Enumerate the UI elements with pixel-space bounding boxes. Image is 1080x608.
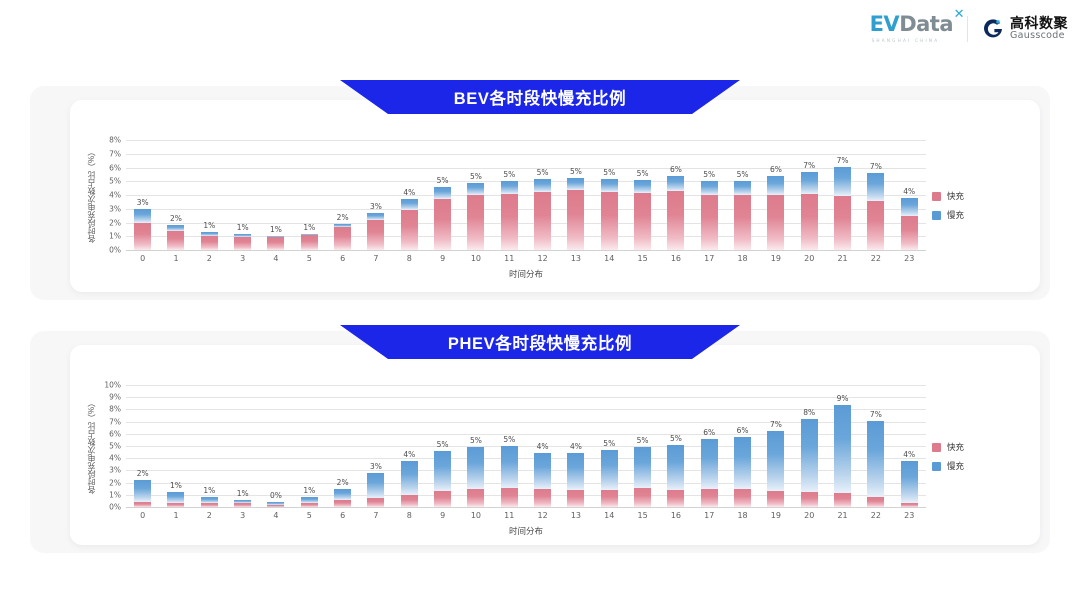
bar-data-label: 5% bbox=[437, 440, 449, 449]
x-axis-tick: 1 bbox=[160, 511, 191, 520]
stacked-bar[interactable] bbox=[834, 405, 851, 507]
legend-color-swatch bbox=[932, 462, 941, 471]
x-axis-tick: 9 bbox=[427, 511, 458, 520]
bar-segment-fast-charge[interactable] bbox=[534, 489, 551, 507]
bar-segment-fast-charge[interactable] bbox=[267, 237, 284, 250]
bar-segment-slow-charge[interactable] bbox=[134, 209, 151, 222]
bar-segment-fast-charge[interactable] bbox=[467, 489, 484, 507]
bar-series-group: 2%1%1%1%0%1%2%3%4%5%5%5%4%4%5%5%5%6%6%7%… bbox=[126, 385, 926, 507]
legend-label: 慢充 bbox=[947, 209, 964, 221]
bar-data-label: 7% bbox=[770, 420, 782, 429]
stacked-bar[interactable] bbox=[267, 236, 284, 250]
y-axis-tick: 5% bbox=[109, 442, 121, 451]
legend-color-swatch bbox=[932, 443, 941, 452]
bar-column[interactable]: 3% bbox=[360, 140, 391, 250]
bar-segment-slow-charge[interactable] bbox=[701, 181, 718, 195]
bar-segment-slow-charge[interactable] bbox=[701, 439, 718, 489]
bar-column[interactable]: 5% bbox=[460, 385, 491, 507]
stacked-bar[interactable] bbox=[467, 447, 484, 507]
stacked-bar[interactable] bbox=[267, 502, 284, 507]
stacked-bar[interactable] bbox=[901, 461, 918, 507]
stacked-bar[interactable] bbox=[134, 209, 151, 250]
bar-segment-fast-charge[interactable] bbox=[534, 192, 551, 250]
bar-segment-slow-charge[interactable] bbox=[901, 198, 918, 217]
stacked-bar[interactable] bbox=[734, 181, 751, 250]
bar-segment-slow-charge[interactable] bbox=[167, 492, 184, 504]
x-axis-tick: 6 bbox=[327, 254, 358, 263]
x-axis-tick: 12 bbox=[527, 254, 558, 263]
chart-legend: 快充慢充 bbox=[932, 441, 964, 472]
stacked-bar[interactable] bbox=[534, 179, 551, 250]
y-axis-label: 各时段充电次数占比（%） bbox=[86, 385, 97, 507]
stacked-bar[interactable] bbox=[301, 234, 318, 251]
bar-segment-fast-charge[interactable] bbox=[501, 194, 518, 250]
bar-segment-slow-charge[interactable] bbox=[901, 461, 918, 503]
x-axis-tick: 15 bbox=[627, 254, 658, 263]
stacked-bar[interactable] bbox=[634, 180, 651, 250]
bar-segment-slow-charge[interactable] bbox=[867, 421, 884, 497]
x-axis-tick: 17 bbox=[694, 254, 725, 263]
x-axis-tick: 2 bbox=[194, 254, 225, 263]
stacked-bar[interactable] bbox=[234, 500, 251, 507]
bar-column[interactable]: 7% bbox=[794, 140, 825, 250]
bar-column[interactable]: 2% bbox=[127, 385, 158, 507]
bar-column[interactable]: 4% bbox=[394, 140, 425, 250]
bar-data-label: 3% bbox=[370, 462, 382, 471]
legend-label: 快充 bbox=[947, 190, 964, 202]
bar-column[interactable]: 5% bbox=[427, 385, 458, 507]
bar-segment-fast-charge[interactable] bbox=[167, 231, 184, 250]
x-axis-tick: 8 bbox=[394, 511, 425, 520]
bar-column[interactable]: 4% bbox=[560, 385, 591, 507]
bar-column[interactable]: 6% bbox=[660, 140, 691, 250]
bar-data-label: 6% bbox=[703, 428, 715, 437]
stacked-bar[interactable] bbox=[401, 199, 418, 250]
bar-segment-fast-charge[interactable] bbox=[434, 199, 451, 250]
x-axis-tick: 16 bbox=[660, 254, 691, 263]
bar-column[interactable]: 1% bbox=[294, 385, 325, 507]
bar-column[interactable]: 6% bbox=[727, 385, 758, 507]
bar-segment-fast-charge[interactable] bbox=[867, 497, 884, 507]
bar-segment-fast-charge[interactable] bbox=[667, 191, 684, 250]
bar-segment-slow-charge[interactable] bbox=[434, 187, 451, 199]
legend-item[interactable]: 慢充 bbox=[932, 460, 964, 472]
stacked-bar[interactable] bbox=[867, 173, 884, 250]
bar-segment-slow-charge[interactable] bbox=[867, 173, 884, 201]
bar-column[interactable]: 1% bbox=[227, 140, 258, 250]
stacked-bar[interactable] bbox=[401, 461, 418, 507]
y-axis-tick: 1% bbox=[109, 232, 121, 241]
x-axis-tick: 21 bbox=[827, 254, 858, 263]
bar-segment-fast-charge[interactable] bbox=[834, 493, 851, 507]
bar-segment-slow-charge[interactable] bbox=[567, 178, 584, 190]
bar-column[interactable]: 5% bbox=[627, 385, 658, 507]
bar-column[interactable]: 2% bbox=[327, 140, 358, 250]
bar-segment-slow-charge[interactable] bbox=[667, 176, 684, 190]
bar-data-label: 5% bbox=[637, 436, 649, 445]
x-axis-tick: 23 bbox=[894, 254, 925, 263]
bar-column[interactable]: 6% bbox=[760, 140, 791, 250]
bar-segment-fast-charge[interactable] bbox=[134, 502, 151, 507]
bar-column[interactable]: 5% bbox=[560, 140, 591, 250]
bar-segment-slow-charge[interactable] bbox=[401, 461, 418, 495]
bar-segment-fast-charge[interactable] bbox=[801, 492, 818, 507]
stacked-bar[interactable] bbox=[767, 176, 784, 250]
bar-segment-fast-charge[interactable] bbox=[167, 503, 184, 507]
bar-segment-fast-charge[interactable] bbox=[701, 195, 718, 250]
bar-column[interactable]: 5% bbox=[594, 385, 625, 507]
gridline bbox=[126, 250, 926, 251]
bar-segment-slow-charge[interactable] bbox=[501, 446, 518, 488]
evdata-tagline: SHANGHAI CHINA bbox=[872, 38, 940, 43]
bar-segment-fast-charge[interactable] bbox=[334, 500, 351, 507]
stacked-bar[interactable] bbox=[734, 437, 751, 507]
x-axis-tick: 4 bbox=[260, 511, 291, 520]
bar-segment-slow-charge[interactable] bbox=[601, 179, 618, 192]
x-axis-tick: 1 bbox=[160, 254, 191, 263]
bar-segment-fast-charge[interactable] bbox=[634, 488, 651, 507]
bar-data-label: 3% bbox=[137, 198, 149, 207]
bar-data-label: 5% bbox=[503, 435, 515, 444]
bar-data-label: 1% bbox=[170, 481, 182, 490]
bar-column[interactable]: 4% bbox=[527, 385, 558, 507]
stacked-bar[interactable] bbox=[601, 179, 618, 250]
bar-data-label: 1% bbox=[270, 225, 282, 234]
bar-data-label: 5% bbox=[537, 168, 549, 177]
x-axis-tick: 17 bbox=[694, 511, 725, 520]
bar-segment-slow-charge[interactable] bbox=[801, 419, 818, 492]
bar-column[interactable]: 5% bbox=[727, 140, 758, 250]
bar-column[interactable]: 1% bbox=[194, 140, 225, 250]
bar-segment-slow-charge[interactable] bbox=[601, 450, 618, 490]
bar-column[interactable]: 2% bbox=[160, 140, 191, 250]
bar-column[interactable]: 1% bbox=[194, 385, 225, 507]
stacked-bar[interactable] bbox=[901, 198, 918, 250]
bar-segment-fast-charge[interactable] bbox=[601, 192, 618, 250]
bar-data-label: 5% bbox=[703, 170, 715, 179]
bar-column[interactable]: 5% bbox=[527, 140, 558, 250]
bar-segment-fast-charge[interactable] bbox=[801, 194, 818, 250]
bar-segment-fast-charge[interactable] bbox=[601, 490, 618, 507]
bar-data-label: 1% bbox=[237, 223, 249, 232]
bar-segment-fast-charge[interactable] bbox=[501, 488, 518, 507]
bar-segment-slow-charge[interactable] bbox=[667, 445, 684, 490]
stacked-bar[interactable] bbox=[334, 224, 351, 250]
stacked-bar[interactable] bbox=[834, 167, 851, 250]
bar-segment-slow-charge[interactable] bbox=[134, 480, 151, 501]
bar-data-label: 7% bbox=[870, 410, 882, 419]
y-axis-tick: 8% bbox=[109, 405, 121, 414]
bar-segment-fast-charge[interactable] bbox=[201, 236, 218, 250]
x-axis-tick: 21 bbox=[827, 511, 858, 520]
y-axis-tick: 6% bbox=[109, 163, 121, 172]
stacked-bar[interactable] bbox=[534, 453, 551, 507]
stacked-bar[interactable] bbox=[667, 176, 684, 250]
bar-segment-fast-charge[interactable] bbox=[734, 195, 751, 250]
bar-segment-fast-charge[interactable] bbox=[701, 489, 718, 507]
bar-data-label: 1% bbox=[303, 223, 315, 232]
bar-data-label: 7% bbox=[803, 161, 815, 170]
bar-column[interactable]: 0% bbox=[260, 385, 291, 507]
bar-segment-fast-charge[interactable] bbox=[867, 201, 884, 251]
bar-segment-fast-charge[interactable] bbox=[567, 490, 584, 507]
stacked-bar[interactable] bbox=[201, 497, 218, 507]
stacked-bar[interactable] bbox=[501, 181, 518, 250]
y-axis-tick: 1% bbox=[109, 490, 121, 499]
x-axis-tick: 23 bbox=[894, 511, 925, 520]
y-axis-tick: 3% bbox=[109, 204, 121, 213]
bar-segment-slow-charge[interactable] bbox=[834, 167, 851, 196]
bar-data-label: 2% bbox=[170, 214, 182, 223]
bar-segment-slow-charge[interactable] bbox=[401, 199, 418, 210]
bar-column[interactable]: 6% bbox=[694, 385, 725, 507]
bar-column[interactable]: 4% bbox=[894, 385, 925, 507]
y-axis-tick: 10% bbox=[104, 381, 121, 390]
bar-data-label: 4% bbox=[903, 187, 915, 196]
bar-column[interactable]: 5% bbox=[694, 140, 725, 250]
bar-series-group: 3%2%1%1%1%1%2%3%4%5%5%5%5%5%5%5%6%5%5%6%… bbox=[126, 140, 926, 250]
legend-label: 慢充 bbox=[947, 460, 964, 472]
bar-column[interactable]: 9% bbox=[827, 385, 858, 507]
x-axis-tick: 22 bbox=[860, 511, 891, 520]
stacked-bar[interactable] bbox=[167, 225, 184, 250]
x-axis-tick: 19 bbox=[760, 254, 791, 263]
bar-segment-fast-charge[interactable] bbox=[301, 503, 318, 507]
bar-data-label: 5% bbox=[570, 167, 582, 176]
stacked-bar[interactable] bbox=[634, 447, 651, 507]
legend-color-swatch bbox=[932, 211, 941, 220]
stacked-bar[interactable] bbox=[334, 489, 351, 507]
stacked-bar[interactable] bbox=[134, 480, 151, 507]
stacked-bar[interactable] bbox=[434, 451, 451, 507]
header-logos: EVData ✕ SHANGHAI CHINA 高科数聚 Gausscode bbox=[870, 14, 1068, 43]
bar-segment-fast-charge[interactable] bbox=[901, 216, 918, 250]
bar-column[interactable]: 3% bbox=[127, 140, 158, 250]
bar-segment-slow-charge[interactable] bbox=[434, 451, 451, 491]
stacked-bar[interactable] bbox=[201, 232, 218, 250]
bar-column[interactable]: 5% bbox=[660, 385, 691, 507]
bar-data-label: 3% bbox=[370, 202, 382, 211]
bar-segment-fast-charge[interactable] bbox=[234, 503, 251, 507]
legend-color-swatch bbox=[932, 192, 941, 201]
bar-segment-slow-charge[interactable] bbox=[534, 179, 551, 191]
bar-column[interactable]: 7% bbox=[860, 140, 891, 250]
bar-segment-fast-charge[interactable] bbox=[201, 503, 218, 507]
bar-column[interactable]: 3% bbox=[360, 385, 391, 507]
x-axis-tick: 10 bbox=[460, 511, 491, 520]
x-axis-tick: 10 bbox=[460, 254, 491, 263]
gausscode-g-icon bbox=[982, 18, 1004, 40]
bar-data-label: 1% bbox=[237, 489, 249, 498]
bar-segment-slow-charge[interactable] bbox=[367, 213, 384, 220]
legend-item[interactable]: 慢充 bbox=[932, 209, 964, 221]
legend-item[interactable]: 快充 bbox=[932, 190, 964, 202]
x-axis-tick: 9 bbox=[427, 254, 458, 263]
x-axis-tick: 2 bbox=[194, 511, 225, 520]
x-axis-ticks: 01234567891011121314151617181920212223 bbox=[126, 511, 926, 520]
bar-data-label: 5% bbox=[470, 436, 482, 445]
y-axis-tick: 2% bbox=[109, 218, 121, 227]
x-axis-tick: 13 bbox=[560, 254, 591, 263]
bar-data-label: 1% bbox=[203, 486, 215, 495]
bar-data-label: 6% bbox=[737, 426, 749, 435]
x-axis-tick: 16 bbox=[660, 511, 691, 520]
stacked-bar[interactable] bbox=[301, 497, 318, 507]
bar-data-label: 7% bbox=[870, 162, 882, 171]
x-axis-tick: 11 bbox=[494, 511, 525, 520]
stacked-bar[interactable] bbox=[234, 234, 251, 250]
bar-data-label: 6% bbox=[770, 165, 782, 174]
bar-segment-slow-charge[interactable] bbox=[634, 180, 651, 193]
legend-item[interactable]: 快充 bbox=[932, 441, 964, 453]
bar-data-label: 4% bbox=[403, 450, 415, 459]
stacked-bar[interactable] bbox=[867, 421, 884, 507]
y-axis-tick: 7% bbox=[109, 149, 121, 158]
bar-segment-slow-charge[interactable] bbox=[534, 453, 551, 489]
bar-segment-fast-charge[interactable] bbox=[301, 235, 318, 250]
bar-segment-fast-charge[interactable] bbox=[467, 195, 484, 250]
y-axis-tick: 5% bbox=[109, 177, 121, 186]
bar-column[interactable]: 1% bbox=[294, 140, 325, 250]
bar-column[interactable]: 5% bbox=[427, 140, 458, 250]
x-axis-tick: 0 bbox=[127, 511, 158, 520]
bar-segment-fast-charge[interactable] bbox=[634, 193, 651, 250]
x-axis-tick: 19 bbox=[760, 511, 791, 520]
bar-segment-fast-charge[interactable] bbox=[134, 223, 151, 251]
bar-data-label: 2% bbox=[337, 213, 349, 222]
bar-segment-fast-charge[interactable] bbox=[667, 490, 684, 507]
stacked-bar[interactable] bbox=[567, 178, 584, 250]
bar-segment-slow-charge[interactable] bbox=[834, 405, 851, 493]
bar-segment-fast-charge[interactable] bbox=[434, 491, 451, 507]
bar-column[interactable]: 2% bbox=[327, 385, 358, 507]
bar-segment-slow-charge[interactable] bbox=[467, 447, 484, 489]
bar-segment-slow-charge[interactable] bbox=[334, 489, 351, 500]
x-axis-label: 时间分布 bbox=[126, 525, 926, 537]
y-axis-tick: 4% bbox=[109, 454, 121, 463]
bar-segment-slow-charge[interactable] bbox=[501, 181, 518, 194]
x-axis-tick: 18 bbox=[727, 511, 758, 520]
bar-segment-slow-charge[interactable] bbox=[767, 176, 784, 195]
evdata-x-icon: ✕ bbox=[954, 8, 964, 21]
bar-data-label: 5% bbox=[637, 169, 649, 178]
bar-column[interactable]: 7% bbox=[827, 140, 858, 250]
gausscode-cn-name: 高科数聚 bbox=[1010, 16, 1068, 31]
x-axis-tick: 12 bbox=[527, 511, 558, 520]
bar-column[interactable]: 7% bbox=[760, 385, 791, 507]
stacked-bar[interactable] bbox=[701, 181, 718, 250]
bar-segment-fast-charge[interactable] bbox=[401, 495, 418, 507]
bar-column[interactable]: 5% bbox=[594, 140, 625, 250]
stacked-bar[interactable] bbox=[567, 453, 584, 507]
bar-data-label: 9% bbox=[837, 394, 849, 403]
y-axis-label: 各时段充电次数占比（%） bbox=[86, 140, 97, 250]
x-axis-tick: 7 bbox=[360, 511, 391, 520]
bar-column[interactable]: 5% bbox=[494, 385, 525, 507]
stacked-bar[interactable] bbox=[801, 172, 818, 250]
x-axis-tick: 7 bbox=[360, 254, 391, 263]
gridline bbox=[126, 507, 926, 508]
x-axis-tick: 14 bbox=[594, 511, 625, 520]
stacked-bar[interactable] bbox=[667, 445, 684, 507]
bar-segment-fast-charge[interactable] bbox=[834, 196, 851, 250]
plot-area: 0%1%2%3%4%5%6%7%8%3%2%1%1%1%1%2%3%4%5%5%… bbox=[126, 140, 926, 250]
chart-title-banner-phev: PHEV各时段快慢充比例 bbox=[340, 325, 740, 359]
bar-segment-fast-charge[interactable] bbox=[734, 489, 751, 507]
bar-segment-slow-charge[interactable] bbox=[467, 183, 484, 195]
bar-segment-slow-charge[interactable] bbox=[767, 431, 784, 490]
stacked-bar[interactable] bbox=[601, 450, 618, 507]
bar-data-label: 2% bbox=[337, 478, 349, 487]
y-axis-tick: 8% bbox=[109, 136, 121, 145]
bar-segment-slow-charge[interactable] bbox=[734, 181, 751, 195]
bar-column[interactable]: 7% bbox=[860, 385, 891, 507]
bar-data-label: 4% bbox=[570, 442, 582, 451]
bar-data-label: 1% bbox=[203, 221, 215, 230]
page-title-phev: PHEV各时段快慢充比例 bbox=[448, 330, 632, 354]
bar-column[interactable]: 5% bbox=[627, 140, 658, 250]
stacked-bar[interactable] bbox=[467, 183, 484, 250]
bar-segment-fast-charge[interactable] bbox=[567, 190, 584, 250]
bar-segment-slow-charge[interactable] bbox=[634, 447, 651, 488]
stacked-bar[interactable] bbox=[367, 213, 384, 250]
bar-segment-fast-charge[interactable] bbox=[367, 498, 384, 507]
bar-column[interactable]: 8% bbox=[794, 385, 825, 507]
bar-segment-fast-charge[interactable] bbox=[767, 195, 784, 250]
bar-segment-slow-charge[interactable] bbox=[734, 437, 751, 489]
chart-title-banner-bev: BEV各时段快慢充比例 bbox=[340, 80, 740, 114]
stacked-bar[interactable] bbox=[167, 492, 184, 507]
bar-segment-fast-charge[interactable] bbox=[334, 227, 351, 250]
stacked-bar[interactable] bbox=[434, 187, 451, 250]
stacked-bar[interactable] bbox=[801, 419, 818, 507]
bar-data-label: 5% bbox=[670, 434, 682, 443]
bar-column[interactable]: 1% bbox=[227, 385, 258, 507]
bar-segment-fast-charge[interactable] bbox=[367, 220, 384, 250]
stacked-bar[interactable] bbox=[767, 431, 784, 507]
bar-column[interactable]: 5% bbox=[460, 140, 491, 250]
stacked-bar[interactable] bbox=[501, 446, 518, 507]
x-axis-tick: 22 bbox=[860, 254, 891, 263]
bar-column[interactable]: 4% bbox=[894, 140, 925, 250]
gausscode-en-name: Gausscode bbox=[1010, 31, 1068, 41]
bar-segment-fast-charge[interactable] bbox=[401, 210, 418, 250]
bar-data-label: 6% bbox=[670, 165, 682, 174]
legend-label: 快充 bbox=[947, 441, 964, 453]
evdata-logo-icon: EVData ✕ SHANGHAI CHINA bbox=[870, 14, 953, 43]
stacked-bar[interactable] bbox=[701, 439, 718, 507]
bar-segment-fast-charge[interactable] bbox=[267, 505, 284, 507]
bar-segment-slow-charge[interactable] bbox=[801, 172, 818, 194]
bar-data-label: 5% bbox=[470, 172, 482, 181]
bar-data-label: 1% bbox=[303, 486, 315, 495]
bar-column[interactable]: 4% bbox=[394, 385, 425, 507]
y-axis-tick: 9% bbox=[109, 393, 121, 402]
bar-segment-fast-charge[interactable] bbox=[901, 503, 918, 507]
bar-data-label: 8% bbox=[803, 408, 815, 417]
gausscode-text: 高科数聚 Gausscode bbox=[1010, 16, 1068, 41]
x-axis-tick: 3 bbox=[227, 254, 258, 263]
bar-segment-fast-charge[interactable] bbox=[234, 237, 251, 250]
bar-segment-slow-charge[interactable] bbox=[367, 473, 384, 497]
bar-data-label: 2% bbox=[137, 469, 149, 478]
bar-column[interactable]: 1% bbox=[260, 140, 291, 250]
bar-segment-fast-charge[interactable] bbox=[767, 491, 784, 507]
bar-column[interactable]: 1% bbox=[160, 385, 191, 507]
bar-segment-slow-charge[interactable] bbox=[567, 453, 584, 490]
stacked-bar[interactable] bbox=[367, 473, 384, 507]
bar-column[interactable]: 5% bbox=[494, 140, 525, 250]
